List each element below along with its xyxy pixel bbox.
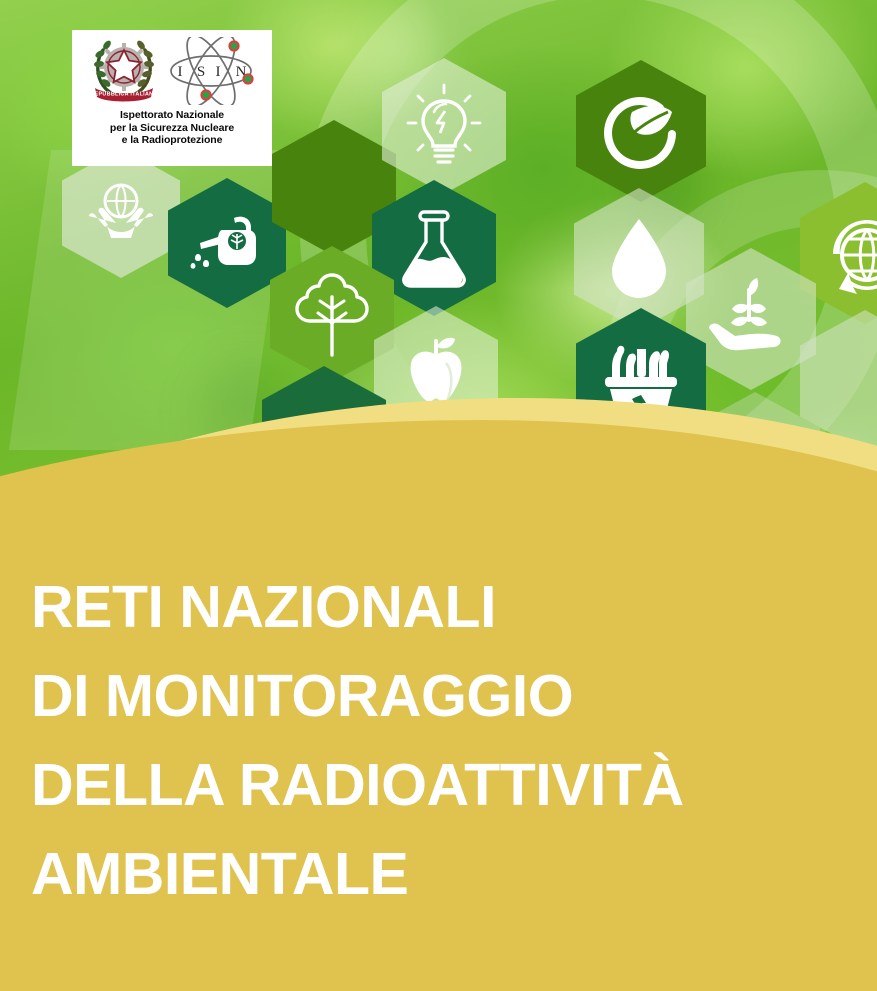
logo-caption-line-3: e la Radioprotezione (110, 134, 234, 147)
emblema-repubblica-italiana-icon: REPUBBLICA ITALIANA (87, 36, 161, 106)
title-line-1: RETI NAZIONALI (31, 563, 851, 652)
hands-holding-globe-icon (85, 180, 157, 246)
tree-icon (290, 269, 374, 359)
isin-logo-box: REPUBBLICA ITALIANA I S I N Ispettorato … (72, 30, 272, 166)
hand-plant-icon (703, 276, 799, 362)
logo-caption-line-2: per la Sicurezza Nucleare (110, 122, 234, 135)
isin-letter-s: S (197, 64, 205, 80)
emblem-ribbon-text: REPUBBLICA ITALIANA (90, 91, 157, 97)
isin-letter-i1: I (178, 64, 183, 80)
lightbulb-icon (404, 83, 484, 169)
logo-caption-line-1: Ispettorato Nazionale (110, 109, 234, 122)
cover-title: RETI NAZIONALI DI MONITORAGGIO DELLA RAD… (31, 563, 851, 919)
title-line-2: DI MONITORAGGIO (31, 652, 851, 741)
leaf-circle-icon (598, 88, 684, 174)
isin-letter-i2: I (216, 64, 221, 80)
report-cover: REPUBBLICA ITALIANA I S I N Ispettorato … (0, 0, 877, 991)
water-drop-icon (608, 215, 670, 303)
title-line-3: DELLA RADIOATTIVITÀ (31, 741, 851, 830)
globe-recycle-icon (819, 208, 877, 298)
logo-caption: Ispettorato Nazionale per la Sicurezza N… (110, 109, 234, 147)
title-line-4: AMBIENTALE (31, 830, 851, 919)
isin-atom-icon: I S I N (165, 37, 257, 105)
flask-icon (395, 206, 473, 290)
watering-can-icon (188, 210, 266, 276)
logo-marks-row: REPUBBLICA ITALIANA I S I N (87, 34, 257, 108)
